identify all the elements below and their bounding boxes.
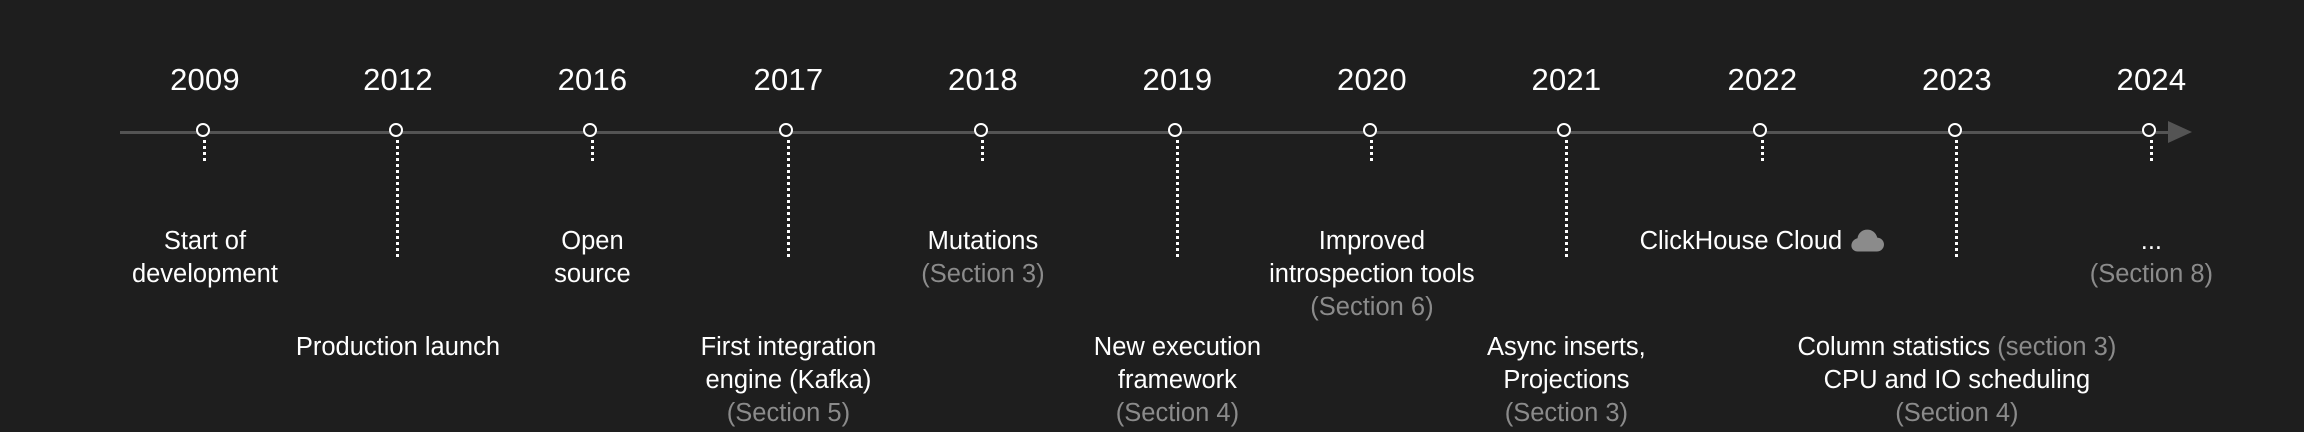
timeline-connector-line [591, 140, 594, 161]
event-text: ClickHouse Cloud [1640, 227, 1843, 255]
timeline-axis-arrowhead [2168, 121, 2192, 143]
timeline-node-circle-icon[interactable] [1948, 123, 1962, 137]
timeline-node-circle-icon[interactable] [196, 123, 210, 137]
caption-line: (Section 8) [1891, 258, 2304, 291]
timeline-connector-line [2150, 140, 2153, 161]
section-reference: (Section 8) [2090, 260, 2213, 288]
section-reference: (Section 4) [1116, 399, 1239, 427]
event-text: source [554, 260, 631, 288]
event-text: Mutations [928, 227, 1039, 255]
event-text: First integration [701, 333, 877, 361]
timeline-node-circle-icon[interactable] [1363, 123, 1377, 137]
timeline-connector-line [203, 140, 206, 161]
section-reference: (Section 4) [1895, 399, 2018, 427]
section-reference: (section 3) [1997, 333, 2116, 361]
timeline-connector-line [981, 140, 984, 161]
timeline-node-circle-icon[interactable] [779, 123, 793, 137]
section-reference: (Section 3) [921, 260, 1044, 288]
caption-line: (Section 4) [1697, 397, 2217, 430]
caption-line: ... [1891, 225, 2304, 258]
timeline-node-circle-icon[interactable] [2142, 123, 2156, 137]
section-reference: (Section 6) [1310, 293, 1433, 321]
timeline-node-circle-icon[interactable] [583, 123, 597, 137]
timeline-connector-line [1370, 140, 1373, 161]
event-text: introspection tools [1269, 260, 1475, 288]
event-text: Open [561, 227, 623, 255]
timeline-node-circle-icon[interactable] [1753, 123, 1767, 137]
event-text: Start of [164, 227, 246, 255]
event-text: Production launch [296, 333, 500, 361]
section-reference: (Section 5) [727, 399, 850, 427]
caption-line: Column statistics (section 3) [1697, 331, 2217, 364]
cloud-icon [1851, 229, 1885, 262]
timeline-axis-line [120, 131, 2175, 134]
event-text: framework [1118, 366, 1237, 394]
timeline-event-caption: Column statistics (section 3)CPU and IO … [1697, 331, 2217, 430]
event-text: New execution [1094, 333, 1261, 361]
timeline-connector-line [1761, 140, 1764, 161]
event-text: Async inserts, [1487, 333, 1646, 361]
event-text: Improved [1319, 227, 1425, 255]
caption-line: introspection tools [1112, 258, 1632, 291]
event-text: CPU and IO scheduling [1824, 366, 2090, 394]
caption-line: CPU and IO scheduling [1697, 364, 2217, 397]
timeline-node-circle-icon[interactable] [1168, 123, 1182, 137]
timeline-figure: 2009Start ofdevelopment2012Production la… [0, 0, 2304, 432]
timeline-node-circle-icon[interactable] [1557, 123, 1571, 137]
section-reference: (Section 3) [1505, 399, 1628, 427]
timeline-node-circle-icon[interactable] [974, 123, 988, 137]
event-text: ... [2141, 227, 2162, 255]
year-label: 2024 [2021, 62, 2281, 98]
timeline-event-caption: ...(Section 8) [1891, 225, 2304, 291]
event-text: Projections [1503, 366, 1629, 394]
timeline-node-circle-icon[interactable] [389, 123, 403, 137]
event-text: development [132, 260, 278, 288]
caption-line: (Section 6) [1112, 291, 1632, 324]
event-text: Column statistics [1797, 333, 1997, 361]
event-text: engine (Kafka) [706, 366, 872, 394]
